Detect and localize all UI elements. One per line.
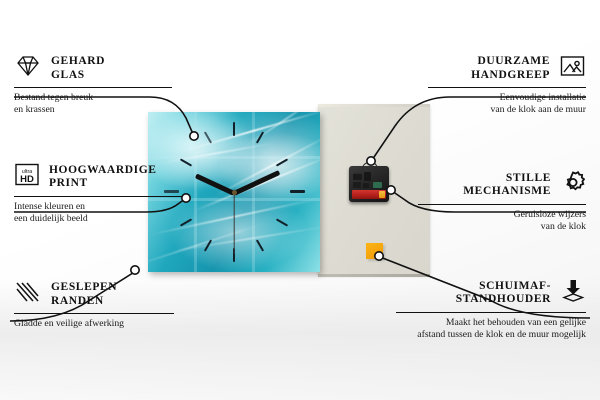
mechanism-part-c [353, 182, 361, 188]
ultra-hd-icon: ultra HD [14, 162, 40, 192]
framed-picture-icon [559, 54, 586, 83]
callout-title-line2: GLAS [51, 69, 85, 81]
callout-title-line1: GEHARD [51, 55, 105, 67]
back-panel-bottom-edge [318, 274, 430, 277]
callout-desc-line1: Eenvoudige installatie [500, 92, 586, 103]
mechanism-part-a [353, 173, 362, 180]
callout-desc-line1: Bestand tegen breuk [14, 92, 93, 103]
svg-text:HD: HD [20, 174, 34, 185]
callout-desc-line2: en krassen [14, 104, 55, 115]
callout-divider [14, 196, 182, 197]
hanger-loop-icon [362, 162, 378, 171]
callout-divider [396, 312, 586, 313]
hour-tick [233, 122, 235, 136]
callout-desc-line2: van de klok [541, 221, 586, 232]
callout-desc-line1: Geruisloze wijzers [514, 209, 586, 220]
clock-hub [232, 190, 237, 195]
bevelled-edges-icon [14, 280, 42, 309]
gear-icon [560, 170, 586, 200]
callout-desc-line1: Gladde en veilige afwerking [14, 318, 124, 329]
mechanism-part-b [364, 172, 371, 181]
callout-title-line2: STANDHOUDER [456, 293, 551, 305]
mechanism-part-d [363, 183, 369, 188]
callout-desc-line1: Intense kleuren en [14, 201, 85, 212]
second-hand [233, 193, 234, 253]
callout-title-line2: PRINT [49, 177, 88, 189]
press-down-icon [560, 278, 586, 308]
callout-stille-mechanisme: STILLE MECHANISME Geruisloze wijzers van… [418, 170, 586, 232]
callout-desc-line2: een duidelijk beeld [14, 213, 88, 224]
callout-desc-line2: afstand tussen de klok en de muur mogeli… [417, 329, 586, 340]
callout-desc-line1: Maakt het behouden van een gelijke [446, 317, 586, 328]
callout-desc-line2: van de klok aan de muur [491, 104, 587, 115]
product-infographic: GEHARD GLAS Bestand tegen breuk en krass… [0, 0, 600, 400]
callout-divider [14, 87, 172, 88]
callout-schuimafstandhouder: SCHUIMAF- STANDHOUDER Maakt het behouden… [396, 278, 586, 340]
callout-title-line1: HOOGWAARDIGE [49, 164, 157, 176]
callout-title-line2: RANDEN [51, 295, 104, 307]
foam-spacer-pad [366, 243, 383, 259]
callout-duurzame-handgreep: DUURZAME HANDGREEP Eenvoudige installati… [428, 54, 586, 115]
callout-title-line1: GESLEPEN [51, 281, 117, 293]
mechanism-chip [373, 182, 382, 188]
battery [352, 190, 386, 199]
diamond-icon [14, 54, 42, 83]
callout-geslepen-randen: GESLEPEN RANDEN Gladde en veilige afwerk… [14, 280, 174, 330]
connector-dot [131, 266, 139, 274]
hour-tick [290, 190, 305, 193]
callout-divider [418, 204, 586, 205]
callout-title-line1: DUURZAME [477, 55, 550, 67]
callout-title-line1: SCHUIMAF- [479, 280, 551, 292]
callout-divider [428, 87, 586, 88]
callout-title-line2: MECHANISME [463, 185, 551, 197]
callout-title-line1: STILLE [506, 172, 551, 184]
callout-title-line2: HANDGREEP [471, 69, 550, 81]
clock-mechanism [349, 166, 389, 202]
back-panel-top-edge [318, 104, 430, 107]
callout-divider [14, 313, 174, 314]
callout-gehard-glas: GEHARD GLAS Bestand tegen breuk en krass… [14, 54, 172, 115]
callout-hoogwaardige-print: ultra HD HOOGWAARDIGE PRINT Intense kleu… [14, 162, 182, 224]
